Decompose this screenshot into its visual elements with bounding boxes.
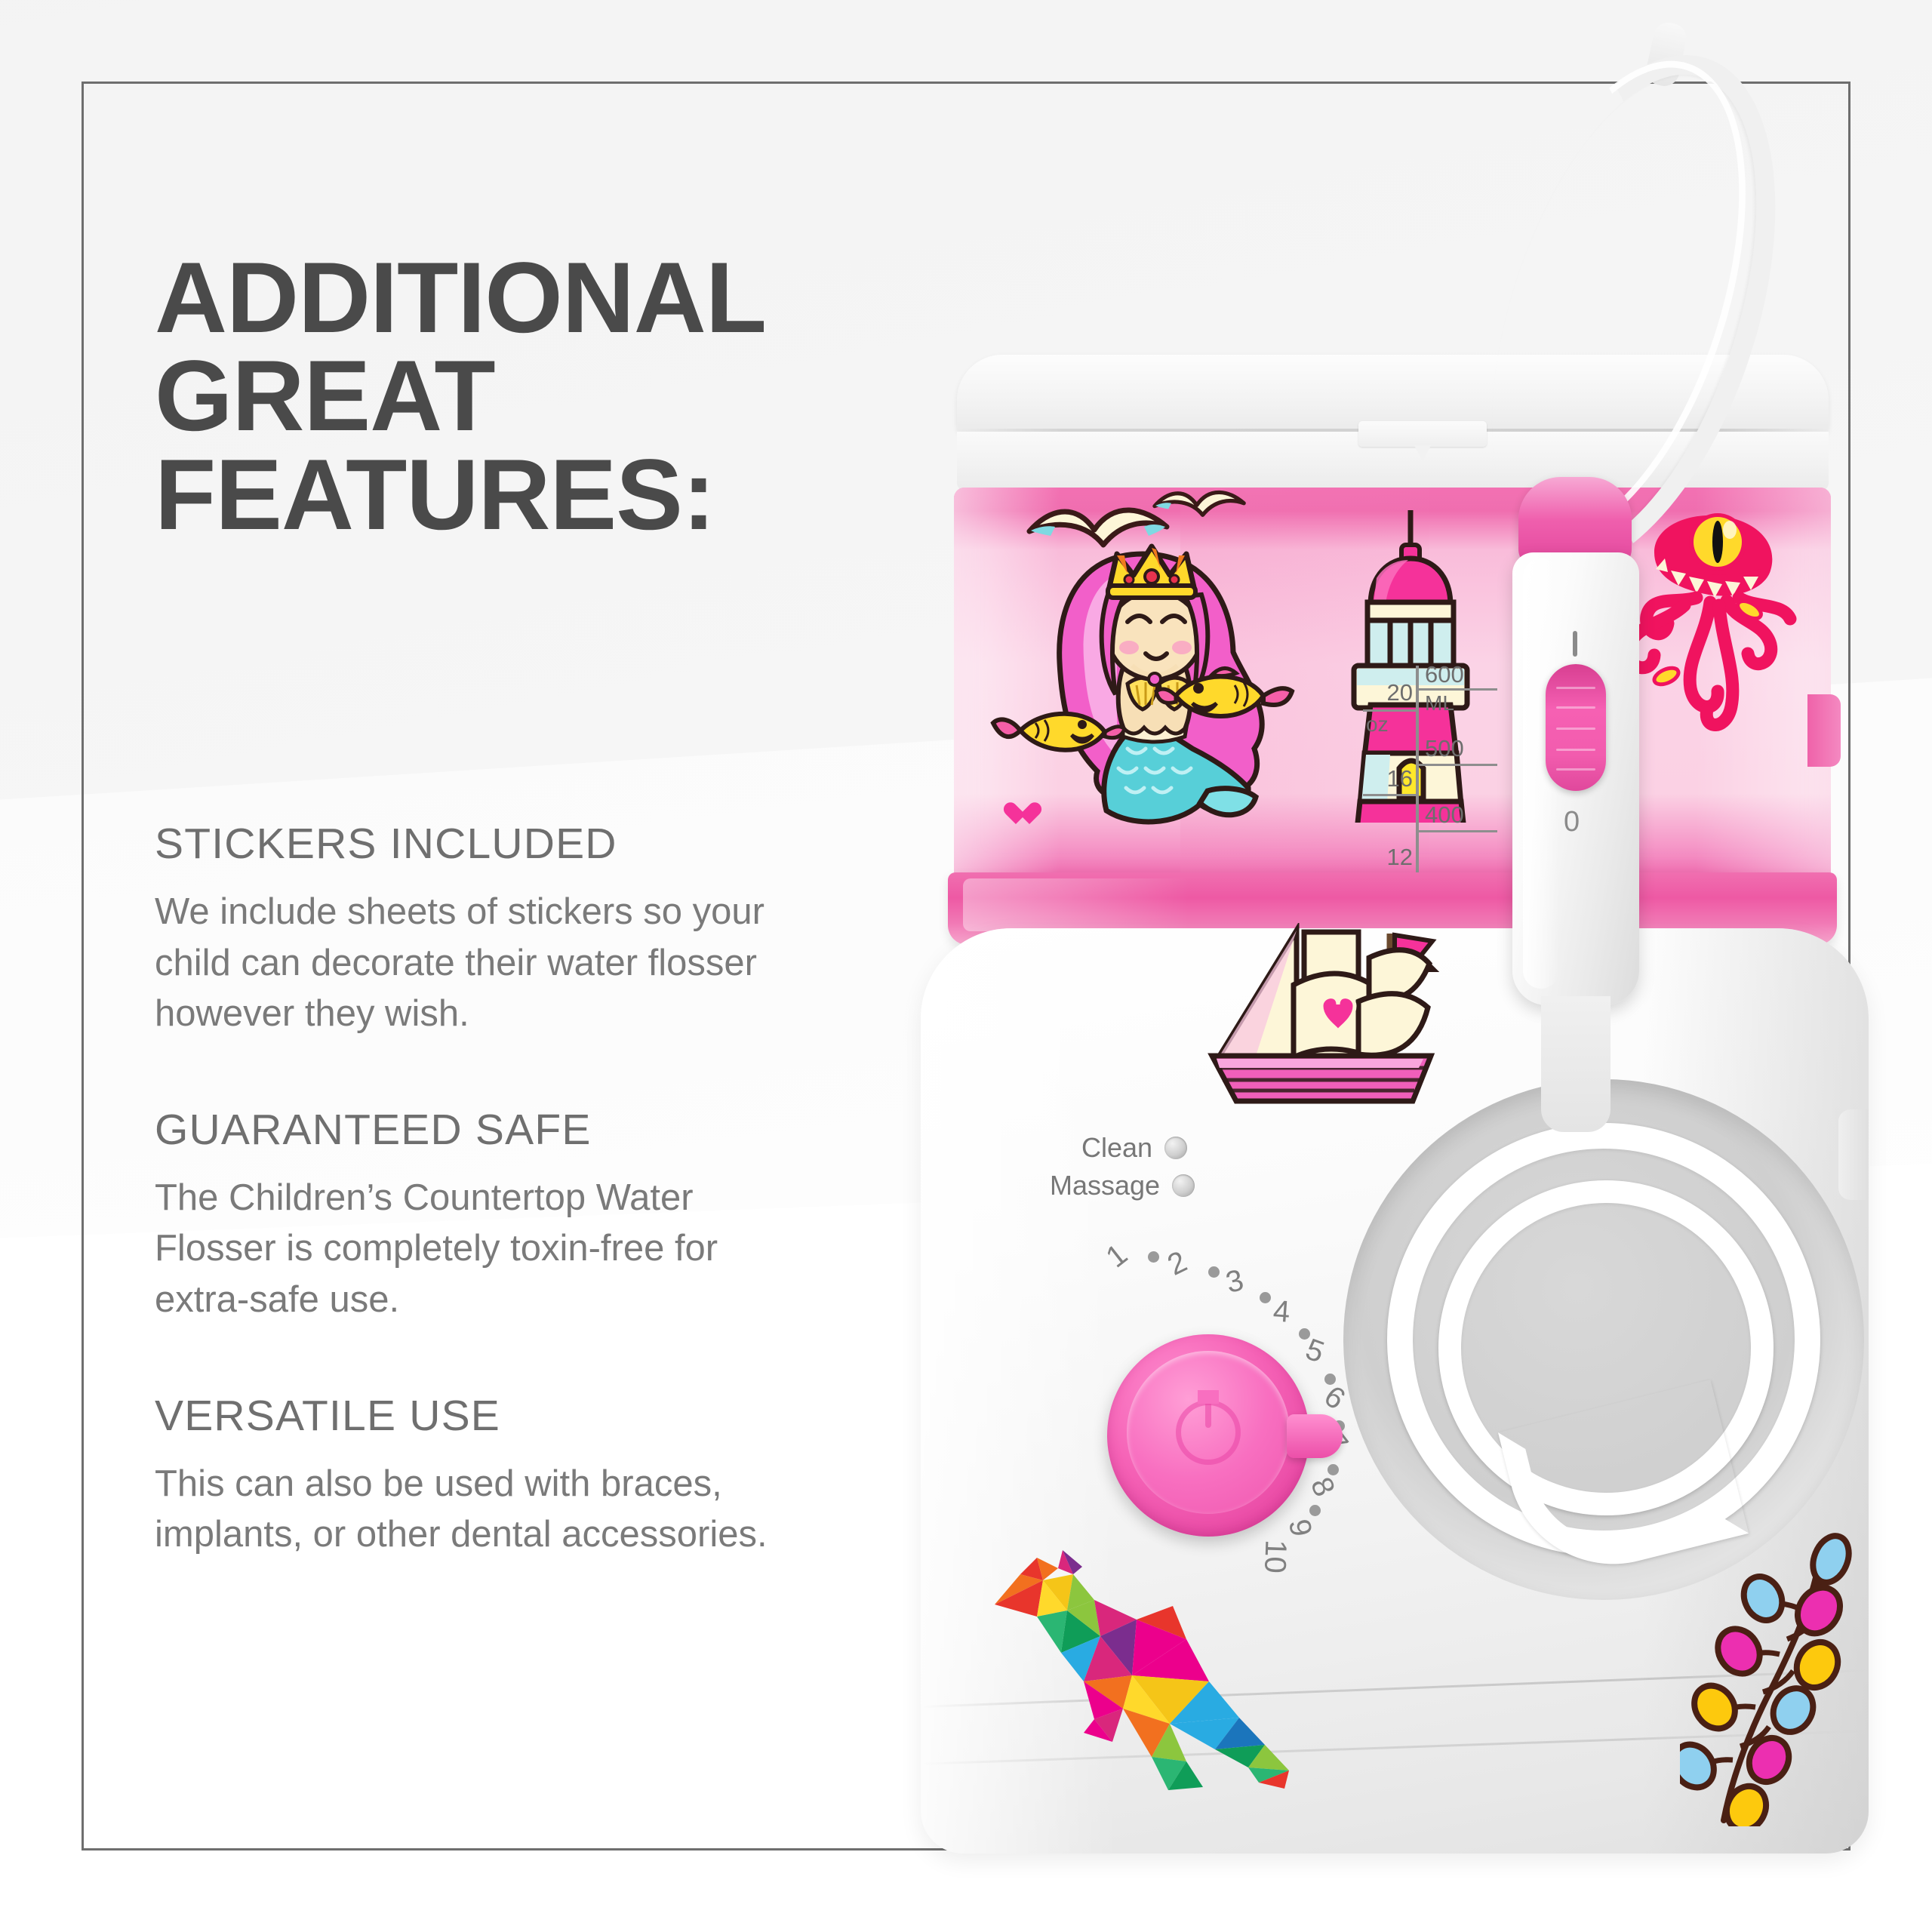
knob-face — [1127, 1351, 1290, 1514]
mermaid-princess-sticker — [984, 522, 1301, 839]
feature-body: This can also be used with braces, impla… — [155, 1459, 819, 1561]
dial-number: 2 — [1162, 1244, 1192, 1282]
infographic-canvas: ADDITIONAL GREAT FEATURES: STICKERS INCL… — [0, 0, 1932, 1932]
handle-hose — [1541, 996, 1611, 1132]
knob-pointer — [1287, 1414, 1343, 1458]
rainbow-kangaroo-sticker — [989, 1547, 1291, 1796]
feature-body: The Children’s Countertop Water Flosser … — [155, 1173, 819, 1326]
headline-line-2: GREAT — [155, 347, 857, 445]
heart-icon — [1010, 803, 1035, 826]
product-image: 600 ML 20 oz 500 16 400 12 300 8 200 — [898, 332, 1894, 1872]
switch-grip-line — [1556, 749, 1595, 751]
feature-item: STICKERS INCLUDED We include sheets of s… — [155, 819, 834, 1040]
scale-label-oz-12: 12 — [1364, 844, 1413, 871]
dial-number: 4 — [1272, 1294, 1291, 1329]
sailing-ship-sticker — [1197, 923, 1446, 1142]
headline-line-1: ADDITIONAL — [155, 249, 857, 347]
switch-off-label: 0 — [1564, 806, 1580, 838]
feature-title: GUARANTEED SAFE — [155, 1105, 834, 1155]
feature-list: STICKERS INCLUDED We include sheets of s… — [155, 819, 834, 1626]
dial-dot — [1208, 1266, 1220, 1278]
dial-number: 8 — [1303, 1472, 1341, 1502]
dial-number: 6 — [1318, 1380, 1351, 1417]
mode-massage-label: Massage — [1050, 1170, 1160, 1201]
dial-dot — [1299, 1328, 1310, 1340]
page-title: ADDITIONAL GREAT FEATURES: — [155, 249, 857, 544]
scale-label-oz-20: 20 — [1364, 679, 1413, 706]
power-icon — [1176, 1400, 1241, 1465]
mode-clean-row[interactable]: Clean — [1081, 1132, 1187, 1164]
reservoir-release-tab[interactable] — [1807, 694, 1841, 767]
switch-grip-line — [1556, 706, 1595, 709]
switch-grip-line — [1556, 768, 1595, 771]
feature-title: VERSATILE USE — [155, 1391, 834, 1441]
reservoir-collar-gloss — [963, 878, 1189, 931]
feature-body: We include sheets of stickers so your ch… — [155, 887, 819, 1040]
base-side-tab — [1838, 1109, 1869, 1200]
scale-unit-oz: oz — [1366, 712, 1389, 737]
dial-number: 3 — [1223, 1263, 1247, 1300]
feature-item: GUARANTEED SAFE The Children’s Counterto… — [155, 1105, 834, 1326]
leaf-branch-sticker — [1680, 1524, 1854, 1826]
scale-vertical-line — [1416, 666, 1419, 880]
scale-tick — [1363, 794, 1417, 796]
mode-clean-label: Clean — [1081, 1132, 1152, 1164]
flosser-handle-assembly: 0 — [1426, 136, 1743, 1268]
switch-on-marker — [1573, 631, 1577, 657]
feature-title: STICKERS INCLUDED — [155, 819, 834, 869]
headline-block: ADDITIONAL GREAT FEATURES: — [155, 249, 857, 544]
handle-power-switch[interactable]: 0 — [1540, 664, 1611, 801]
scale-label-oz-16: 16 — [1364, 765, 1413, 792]
scale-tick — [1363, 709, 1417, 712]
dial-dot — [1148, 1251, 1159, 1263]
dial-dot — [1260, 1292, 1271, 1303]
switch-slider[interactable] — [1546, 664, 1606, 791]
switch-grip-line — [1556, 687, 1595, 689]
feature-item: VERSATILE USE This can also be used with… — [155, 1391, 834, 1561]
massage-indicator-led — [1172, 1174, 1195, 1197]
clean-indicator-led — [1164, 1137, 1187, 1159]
dial-number: 9 — [1281, 1517, 1318, 1540]
dial-number: 1 — [1100, 1238, 1134, 1275]
headline-line-3: FEATURES: — [155, 446, 857, 544]
switch-grip-line — [1556, 728, 1595, 730]
power-pressure-knob[interactable] — [1107, 1334, 1309, 1537]
dial-dot — [1309, 1505, 1321, 1516]
mode-massage-row[interactable]: Massage — [1050, 1170, 1195, 1201]
